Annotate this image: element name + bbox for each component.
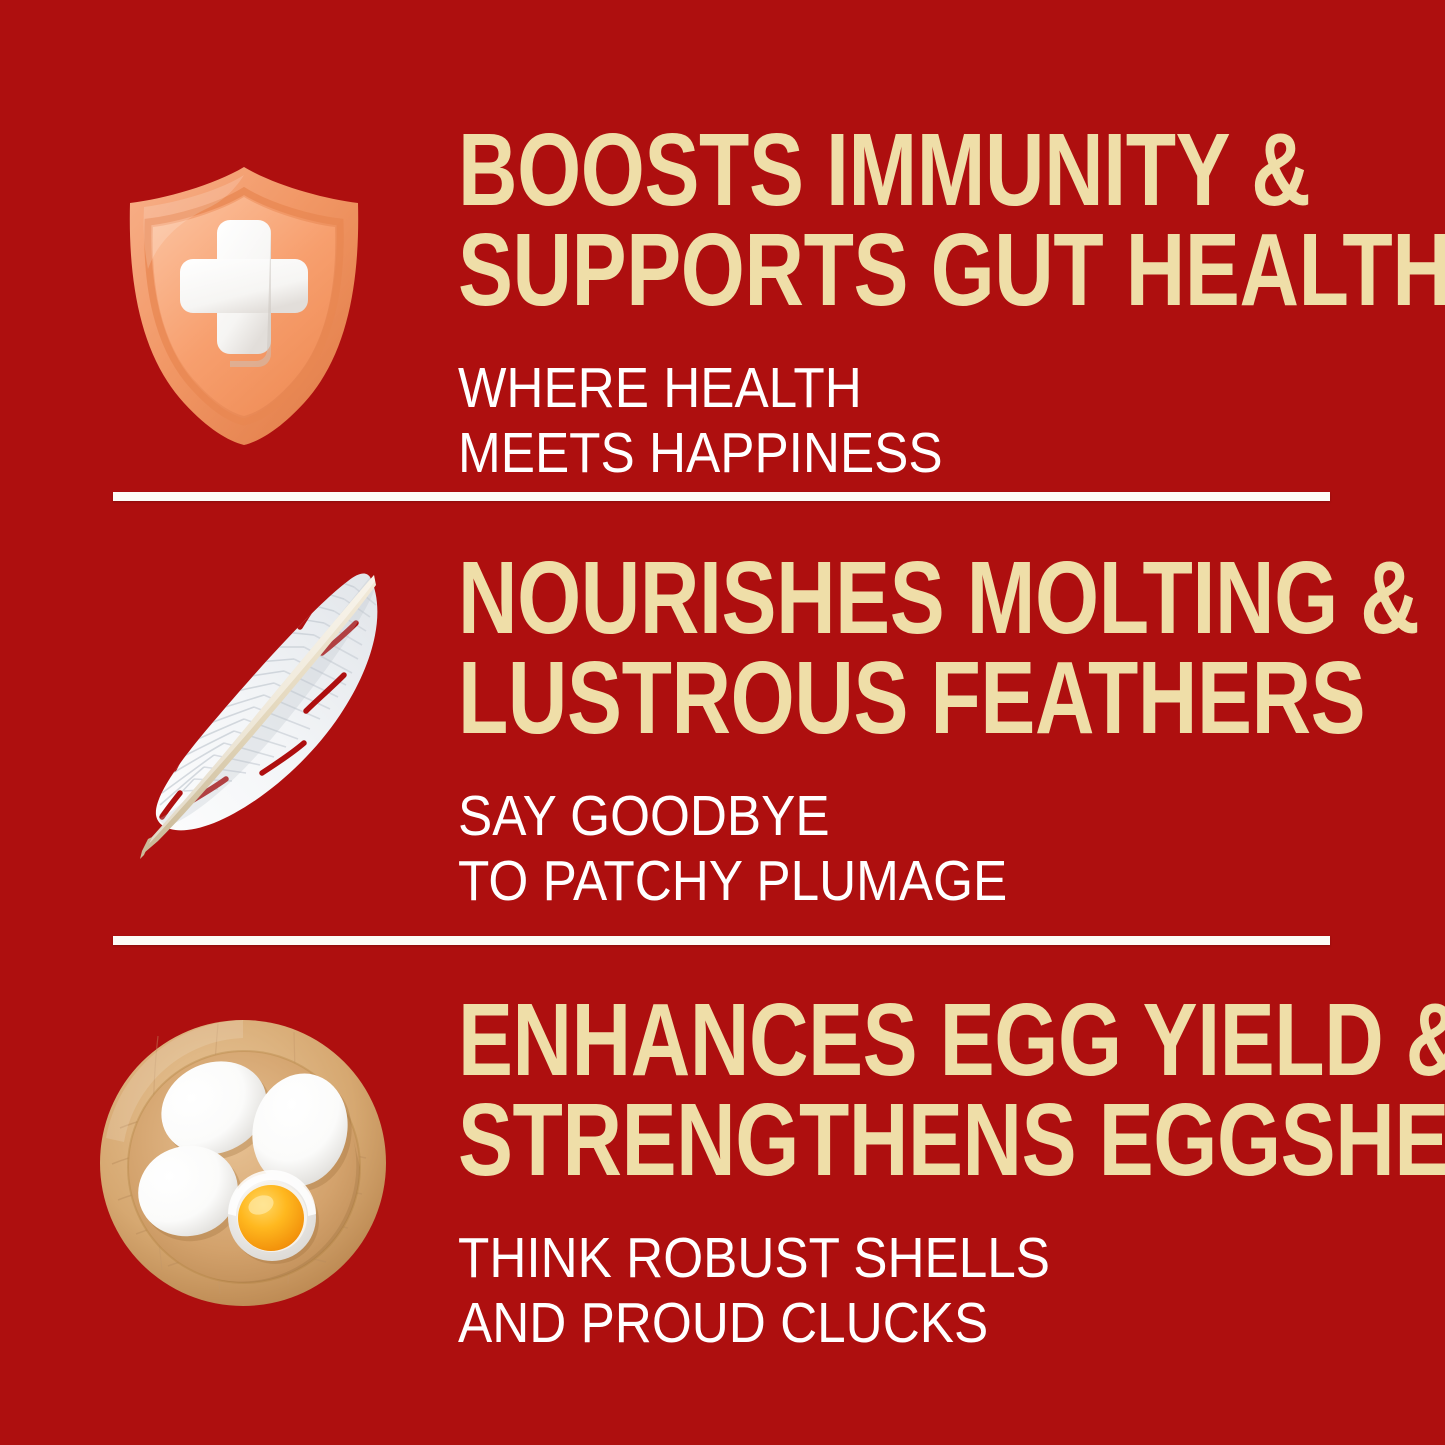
benefit-text-eggs: ENHANCES EGG YIELD & STRENGTHENS EGGSHEL…	[458, 990, 1418, 1356]
benefit-subtitle: THINK ROBUST SHELLS AND PROUD CLUCKS	[458, 1226, 1322, 1356]
benefit-subtitle: SAY GOODBYE TO PATCHY PLUMAGE	[458, 784, 1322, 914]
headline-line-2: LUSTROUS FEATHERS	[458, 648, 1226, 748]
divider-2	[113, 936, 1330, 945]
subtitle-line-2: AND PROUD CLUCKS	[458, 1291, 1322, 1356]
benefit-text-feathers: NOURISHES MOLTING & LUSTROUS FEATHERS SA…	[458, 548, 1418, 914]
feather-icon	[118, 565, 396, 865]
headline-line-1: ENHANCES EGG YIELD &	[458, 990, 1226, 1090]
benefits-infographic: BOOSTS IMMUNITY & SUPPORTS GUT HEALTH WH…	[0, 0, 1445, 1445]
egg-bowl-icon	[98, 1018, 388, 1308]
subtitle-line-1: THINK ROBUST SHELLS	[458, 1226, 1322, 1291]
benefit-headline: NOURISHES MOLTING & LUSTROUS FEATHERS	[458, 548, 1226, 748]
subtitle-line-2: TO PATCHY PLUMAGE	[458, 849, 1322, 914]
headline-line-1: NOURISHES MOLTING &	[458, 548, 1226, 648]
benefit-headline: ENHANCES EGG YIELD & STRENGTHENS EGGSHEL…	[458, 990, 1226, 1190]
headline-line-2: STRENGTHENS EGGSHELLS	[458, 1090, 1226, 1190]
subtitle-line-1: SAY GOODBYE	[458, 784, 1322, 849]
divider-1	[113, 492, 1330, 501]
benefit-row-eggs: ENHANCES EGG YIELD & STRENGTHENS EGGSHEL…	[0, 0, 1445, 460]
